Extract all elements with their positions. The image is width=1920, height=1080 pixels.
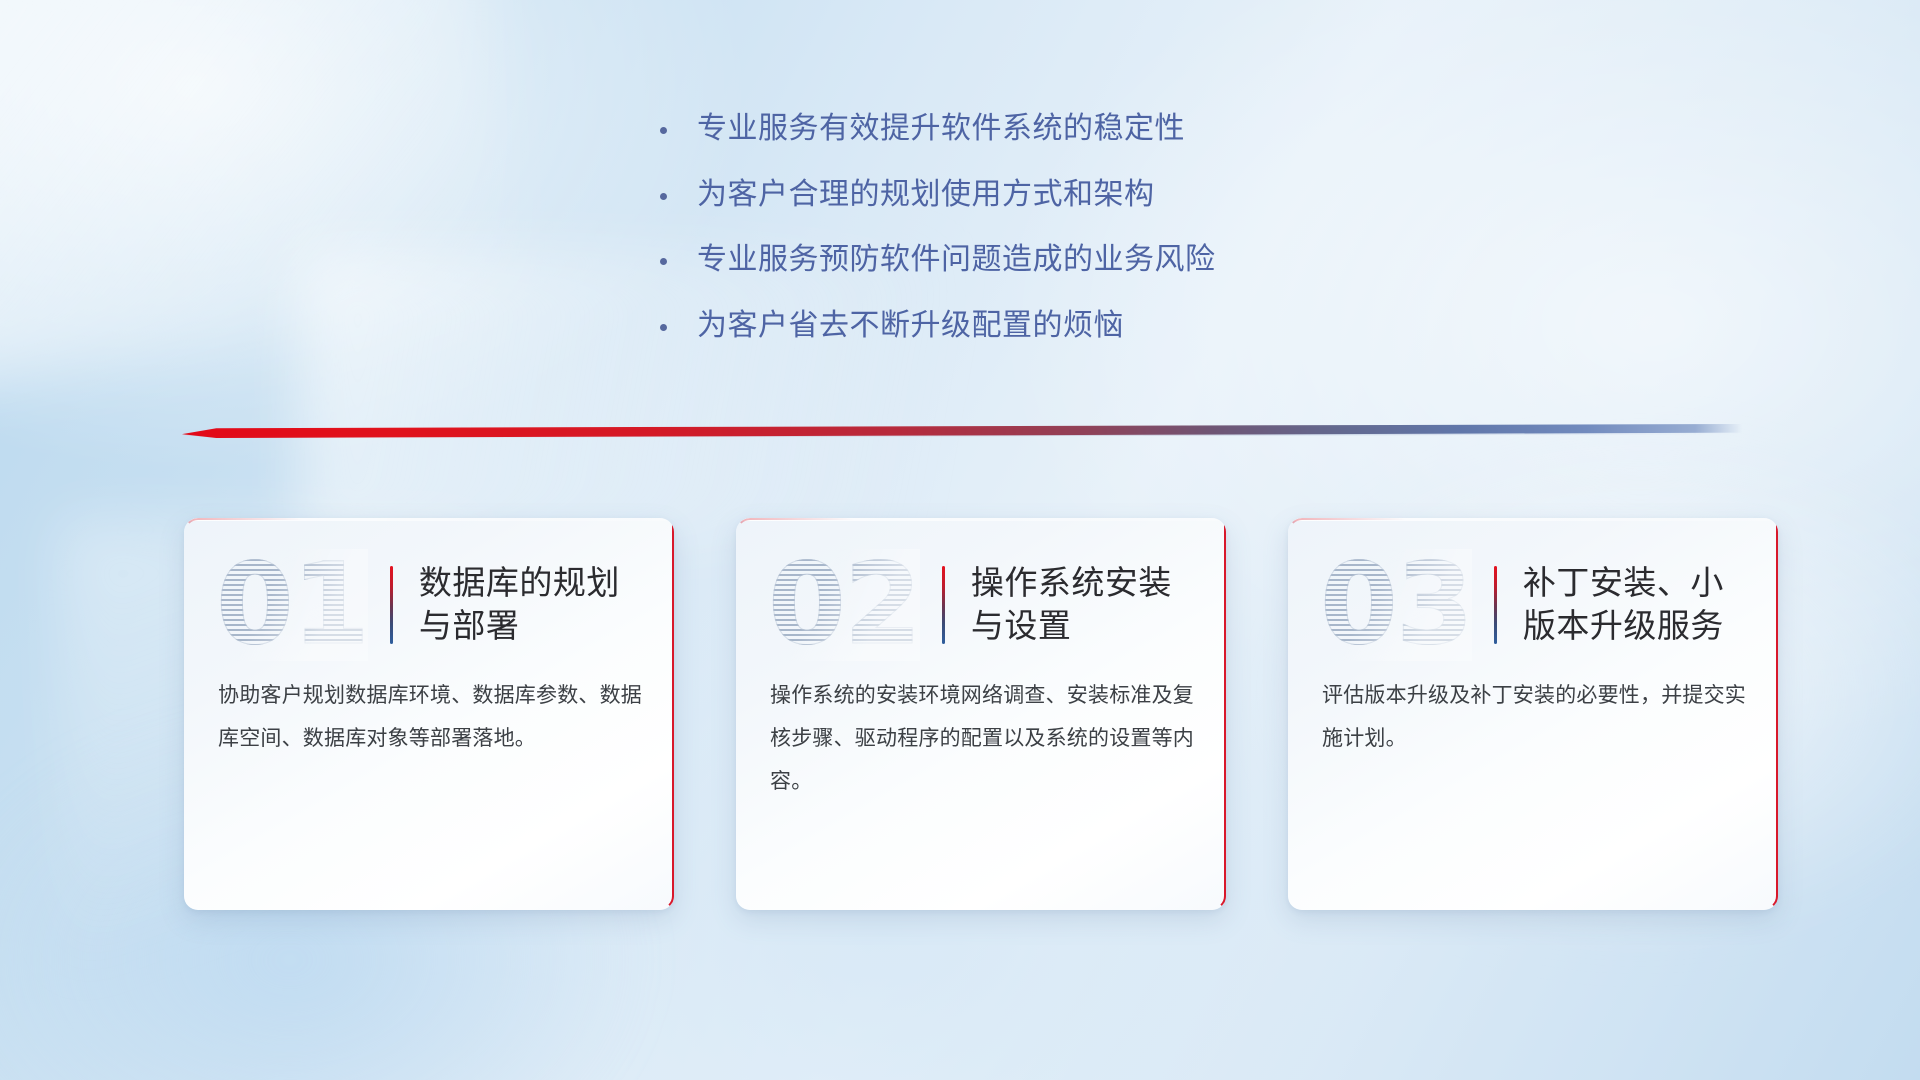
list-item: 专业服务预防软件问题造成的业务风险 xyxy=(660,239,1460,282)
card-header: 02 操作系统安装与设置 xyxy=(736,518,1226,668)
bullet-text: 为客户合理的规划使用方式和架构 xyxy=(697,174,1155,217)
bullet-dot-icon xyxy=(660,324,667,331)
bullet-dot-icon xyxy=(660,193,667,200)
benefits-bullet-list: 专业服务有效提升软件系统的稳定性 为客户合理的规划使用方式和架构 专业服务预防软… xyxy=(660,108,1460,370)
service-card-group: 01 数据库的规划与部署 协助客户规划数据库环境、数据库参数、数据库空间、数据库… xyxy=(184,518,1778,910)
card-divider-bar xyxy=(942,566,945,644)
bullet-text: 专业服务有效提升软件系统的稳定性 xyxy=(697,108,1185,151)
card-title: 补丁安装、小版本升级服务 xyxy=(1523,562,1752,648)
card-number: 01 xyxy=(216,549,368,661)
card-number: 02 xyxy=(768,549,920,661)
card-divider-bar xyxy=(390,566,393,644)
card-description: 评估版本升级及补丁安装的必要性，并提交实施计划。 xyxy=(1288,668,1778,760)
card-number: 03 xyxy=(1320,549,1472,661)
card-title: 操作系统安装与设置 xyxy=(971,562,1200,648)
bullet-text: 为客户省去不断升级配置的烦恼 xyxy=(697,305,1124,348)
card-divider-bar xyxy=(1494,566,1497,644)
background-glow-top-left xyxy=(0,0,527,391)
service-card[interactable]: 01 数据库的规划与部署 协助客户规划数据库环境、数据库参数、数据库空间、数据库… xyxy=(184,518,674,910)
card-description: 操作系统的安装环境网络调查、安装标准及复核步骤、驱动程序的配置以及系统的设置等内… xyxy=(736,668,1226,803)
slide-root: 专业服务有效提升软件系统的稳定性 为客户合理的规划使用方式和架构 专业服务预防软… xyxy=(0,0,1920,1080)
card-header: 01 数据库的规划与部署 xyxy=(184,518,674,668)
service-card[interactable]: 02 操作系统安装与设置 操作系统的安装环境网络调查、安装标准及复核步骤、驱动程… xyxy=(736,518,1226,910)
bullet-text: 专业服务预防软件问题造成的业务风险 xyxy=(697,239,1216,282)
card-title: 数据库的规划与部署 xyxy=(419,562,648,648)
card-description: 协助客户规划数据库环境、数据库参数、数据库空间、数据库对象等部署落地。 xyxy=(184,668,674,760)
bullet-dot-icon xyxy=(660,258,667,265)
list-item: 专业服务有效提升软件系统的稳定性 xyxy=(660,108,1460,151)
section-divider xyxy=(182,424,1742,438)
card-header: 03 补丁安装、小版本升级服务 xyxy=(1288,518,1778,668)
list-item: 为客户合理的规划使用方式和架构 xyxy=(660,174,1460,217)
bullet-dot-icon xyxy=(660,127,667,134)
service-card[interactable]: 03 补丁安装、小版本升级服务 评估版本升级及补丁安装的必要性，并提交实施计划。 xyxy=(1288,518,1778,910)
list-item: 为客户省去不断升级配置的烦恼 xyxy=(660,305,1460,348)
